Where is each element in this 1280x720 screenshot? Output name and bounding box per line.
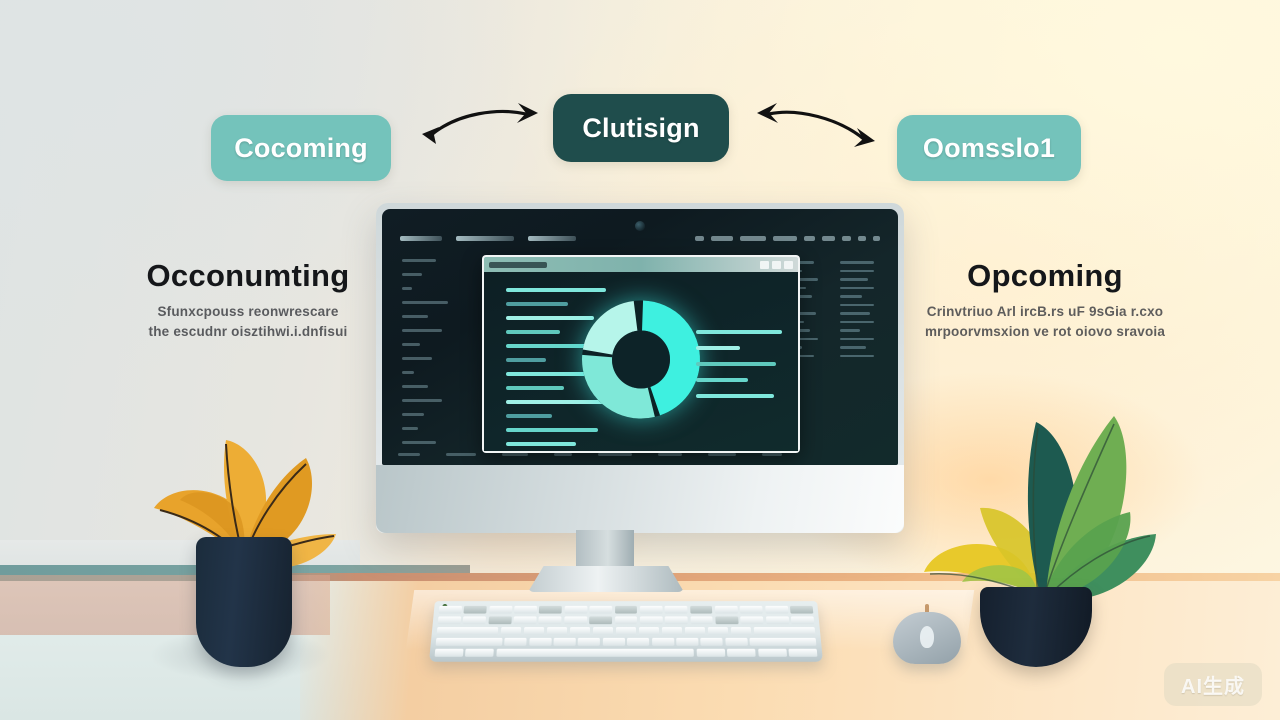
arrow-left-double-headed-icon	[404, 92, 550, 164]
caption-right-line-1: Crinvtriuo Arl ircB.rs uF 9sGia r.cxo	[890, 302, 1200, 322]
plant-right-leaves	[924, 416, 1156, 599]
dashboard-window[interactable]	[482, 255, 800, 453]
code-line	[402, 413, 424, 416]
caption-right-heading: Opcoming	[890, 258, 1200, 294]
window-right-text-block	[696, 330, 782, 398]
code-line	[402, 343, 420, 346]
right-mark	[840, 346, 866, 349]
menubar-item	[528, 236, 576, 241]
badge-center[interactable]: Clutisign	[553, 94, 729, 162]
donut-hole	[612, 330, 670, 388]
text-line	[696, 362, 776, 366]
keyboard-row	[436, 638, 817, 646]
code-line	[402, 259, 436, 262]
monitor-screen[interactable]	[382, 209, 898, 465]
screen-right-column	[788, 261, 884, 357]
right-mark	[840, 295, 862, 298]
badge-right[interactable]: Oomsslo1	[897, 115, 1081, 181]
code-line	[402, 399, 442, 402]
text-line	[506, 288, 606, 292]
bottom-item	[446, 453, 476, 456]
monitor[interactable]	[376, 203, 904, 533]
systray-item	[858, 236, 866, 241]
monitor-stand-foot	[528, 566, 684, 592]
plant-left-pot	[196, 537, 292, 667]
right-mark	[840, 321, 874, 324]
donut-chart-svg	[580, 298, 702, 420]
systray-item	[773, 236, 797, 241]
caption-right-line-2: mrpoorvmsxion ve rot oiovo sravoia	[890, 322, 1200, 342]
caption-left: Occonumting Sfunxcpouss reonwrescare the…	[108, 258, 388, 341]
systray-item	[804, 236, 815, 241]
text-line	[506, 442, 576, 446]
badge-left[interactable]: Cocoming	[211, 115, 391, 181]
text-line	[506, 330, 560, 334]
text-line	[506, 358, 546, 362]
mouse[interactable]	[893, 612, 961, 664]
caption-left-line-2: the escudnr oisztihwi.i.dnfisui	[108, 322, 388, 342]
right-mark	[840, 329, 860, 332]
right-mark	[840, 312, 870, 315]
webcam-icon	[635, 221, 645, 231]
window-body	[484, 272, 798, 451]
menubar-item	[456, 236, 514, 241]
systray-item	[711, 236, 733, 241]
text-line	[506, 386, 564, 390]
right-mark	[840, 355, 874, 358]
code-line	[402, 371, 414, 374]
systray-item	[873, 236, 880, 241]
text-line	[696, 394, 774, 398]
keyboard-row	[437, 627, 816, 635]
code-line	[402, 427, 418, 430]
keyboard[interactable]	[429, 601, 823, 662]
right-stack-b	[840, 261, 884, 357]
text-line	[506, 302, 568, 306]
text-line	[696, 330, 782, 334]
right-mark	[840, 304, 874, 307]
code-line	[402, 329, 442, 332]
ai-generated-watermark: AI生成	[1164, 663, 1262, 706]
right-mark	[840, 338, 874, 341]
caption-left-line-1: Sfunxcpouss reonwrescare	[108, 302, 388, 322]
caption-left-heading: Occonumting	[108, 258, 388, 294]
caption-right: Opcoming Crinvtriuo Arl ircB.rs uF 9sGia…	[890, 258, 1200, 341]
keyboard-row	[439, 606, 814, 614]
right-mark	[840, 287, 874, 290]
screen-systray[interactable]	[695, 236, 880, 241]
text-line	[506, 428, 598, 432]
code-line	[402, 315, 428, 318]
window-controls[interactable]	[760, 261, 793, 269]
text-line	[696, 346, 740, 350]
systray-item	[842, 236, 851, 241]
code-line	[402, 273, 422, 276]
code-line	[402, 441, 436, 444]
right-mark	[840, 270, 874, 273]
code-line	[402, 301, 448, 304]
scene-root: Cocoming Clutisign Oomsslo1 Occonumting …	[0, 0, 1280, 720]
maximize-icon[interactable]	[772, 261, 781, 269]
window-title-text	[489, 262, 547, 268]
right-mark	[840, 278, 868, 281]
code-line	[402, 287, 412, 290]
text-line	[506, 414, 552, 418]
bottom-item	[398, 453, 420, 456]
arrow-right-double-headed-icon	[745, 92, 891, 164]
systray-item	[740, 236, 766, 241]
minimize-icon[interactable]	[760, 261, 769, 269]
menubar-item	[400, 236, 442, 241]
right-mark	[840, 261, 874, 264]
keyboard-row	[435, 649, 818, 657]
donut-chart	[580, 298, 702, 425]
close-icon[interactable]	[784, 261, 793, 269]
systray-item	[695, 236, 704, 241]
window-title-bar[interactable]	[484, 257, 798, 272]
code-line	[402, 357, 432, 360]
monitor-chin	[376, 465, 904, 533]
code-line	[402, 385, 428, 388]
text-line	[506, 372, 590, 376]
text-line	[696, 378, 748, 382]
keyboard-rows	[435, 606, 818, 657]
screen-menubar[interactable]	[382, 231, 898, 245]
keyboard-row	[438, 616, 815, 624]
systray-item	[822, 236, 835, 241]
